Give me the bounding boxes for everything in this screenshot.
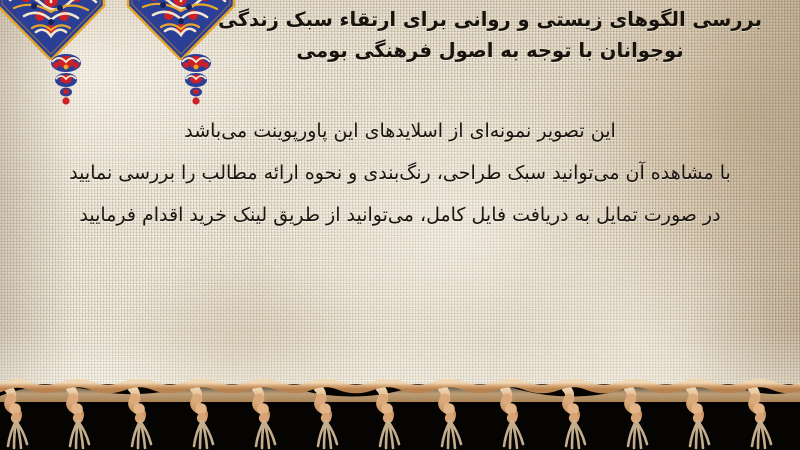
slide-body-line-2: با مشاهده آن می‌توانید سبک طراحی، رنگ‌بن… (24, 152, 776, 194)
presentation-slide: بررسی الگوهای زیستی و روانی برای ارتقاء … (0, 0, 800, 450)
slide-title: بررسی الگوهای زیستی و روانی برای ارتقاء … (210, 4, 770, 66)
carpet-fringe (0, 366, 800, 450)
slide-title-line-1: بررسی الگوهای زیستی و روانی برای ارتقاء … (210, 4, 770, 35)
slide-title-line-2: نوجوانان با توجه به اصول فرهنگی بومی (210, 35, 770, 66)
slide-body-text: این تصویر نمونه‌ای از اسلایدهای این پاور… (24, 110, 776, 236)
slide-body-line-1: این تصویر نمونه‌ای از اسلایدهای این پاور… (24, 110, 776, 152)
slide-body-line-3: در صورت تمایل به دریافت فایل کامل، می‌تو… (24, 194, 776, 236)
carpet-fringe-tassels-icon (0, 366, 800, 450)
